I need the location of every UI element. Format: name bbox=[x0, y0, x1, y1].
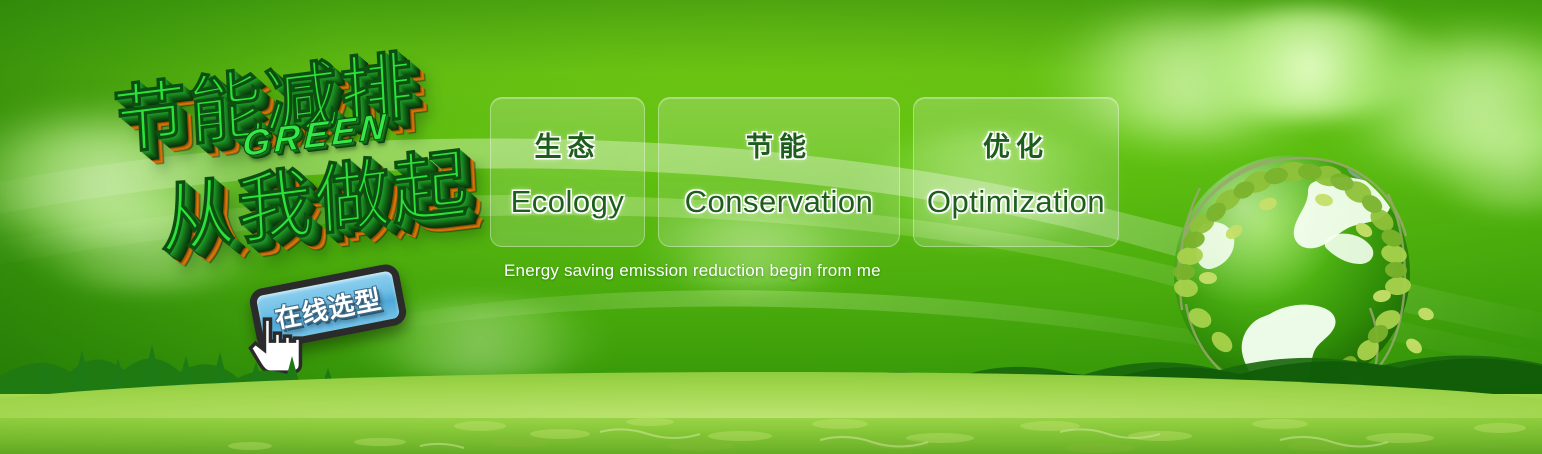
feature-card-conservation[interactable]: 节能 Conservation bbox=[658, 97, 900, 247]
feature-card-list: 生态 Ecology 节能 Conservation 优化 Optimizati… bbox=[490, 97, 1119, 247]
cta-button[interactable]: 在线选型 bbox=[247, 262, 408, 352]
logo-green-overlay: GREEN bbox=[241, 105, 390, 166]
feature-card-cn-label: 生态 bbox=[535, 125, 601, 164]
leafy-globe-icon bbox=[1142, 128, 1442, 428]
feature-card-en-label: Conservation bbox=[685, 184, 874, 220]
logo-line-top: 节能减排 bbox=[110, 25, 417, 169]
headline-logo: 节能减排 从我做起 GREEN bbox=[92, 36, 492, 274]
feature-card-ecology[interactable]: 生态 Ecology bbox=[490, 97, 645, 247]
feature-card-cn-label: 节能 bbox=[746, 125, 812, 164]
cta-button-label: 在线选型 bbox=[271, 279, 384, 336]
grass-texture bbox=[0, 402, 1542, 454]
feature-card-en-label: Ecology bbox=[511, 184, 625, 220]
feature-card-en-label: Optimization bbox=[927, 184, 1105, 220]
online-selection-cta[interactable]: 在线选型 bbox=[247, 262, 408, 352]
logo-line-bottom: 从我做起 bbox=[156, 121, 471, 269]
treeline-icon bbox=[0, 336, 1542, 408]
green-energy-banner: 节能减排 从我做起 GREEN 在线选型 生态 Ecology 节能 Conse… bbox=[0, 0, 1542, 454]
banner-tagline: Energy saving emission reduction begin f… bbox=[504, 261, 881, 281]
grass-field-icon bbox=[0, 394, 1542, 454]
feature-card-optimization[interactable]: 优化 Optimization bbox=[913, 97, 1119, 247]
leaf-cluster bbox=[1173, 160, 1436, 394]
feature-card-cn-label: 优化 bbox=[983, 125, 1049, 164]
